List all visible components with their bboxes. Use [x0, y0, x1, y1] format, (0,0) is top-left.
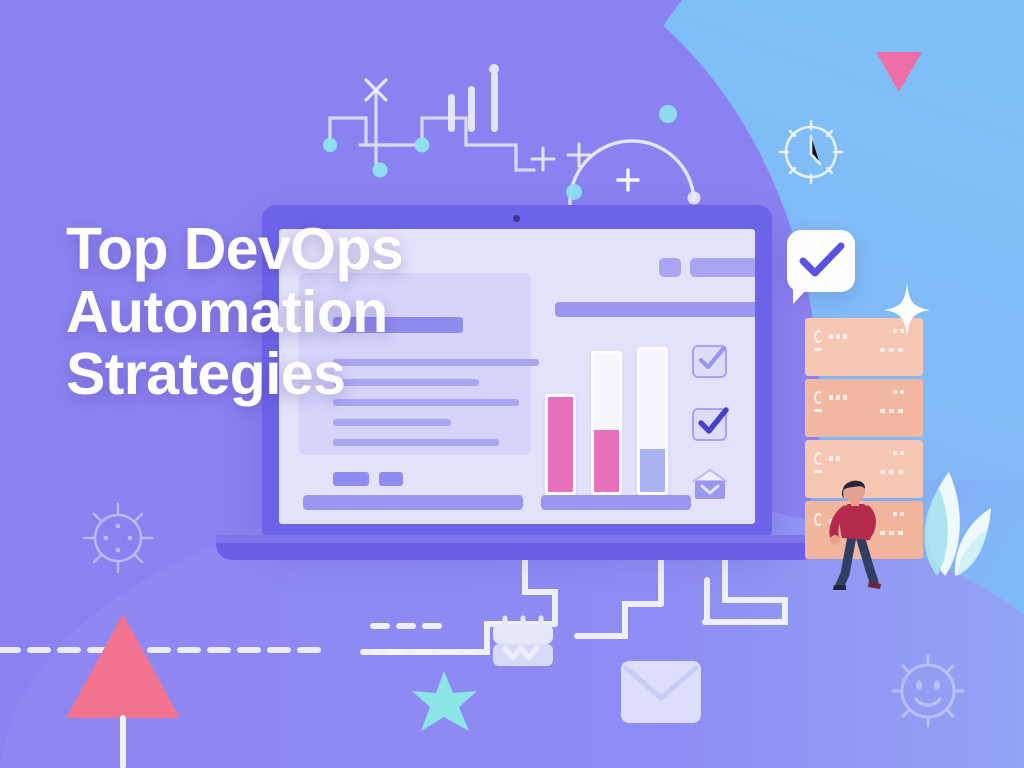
card-button[interactable] — [379, 472, 403, 486]
sparkle-star — [884, 283, 930, 337]
checkbox-checked-dark[interactable] — [692, 408, 727, 441]
speech-bubble-check — [787, 230, 855, 292]
clock-icon — [773, 114, 849, 190]
chart-bar-2-fill — [594, 430, 619, 492]
chart-bar-1-fill — [548, 397, 573, 492]
page-title: Top DevOps Automation Strategies — [66, 218, 586, 406]
check-icon — [800, 244, 844, 280]
card-glyph-icon — [814, 391, 823, 404]
envelope-icon — [620, 660, 702, 724]
walking-person — [826, 478, 898, 594]
chip-wide-bar — [690, 258, 755, 277]
triangle-down-pink — [876, 52, 922, 92]
footer-bar — [541, 495, 691, 510]
placeholder-bar — [333, 419, 451, 426]
headline-line-2: Automation — [66, 281, 586, 344]
chart-bar-2 — [591, 351, 622, 495]
smiley-sun-icon — [885, 648, 971, 734]
placeholder-bar — [333, 439, 499, 446]
laptop-base — [216, 535, 818, 560]
card-button[interactable] — [333, 472, 369, 486]
chart-bar-3-fill — [640, 449, 665, 492]
gear-outline-icon — [80, 500, 156, 576]
asterisk-star-cyan — [409, 669, 479, 735]
card-glyph-icon — [814, 330, 823, 343]
triangle-up-pink — [66, 614, 180, 768]
card-glyph-icon — [814, 513, 823, 526]
checkbox-checked-light[interactable] — [692, 345, 727, 378]
chart-bar-1 — [545, 394, 576, 495]
gauge-arc — [556, 88, 716, 218]
hero-illustration: Top DevOps Automation Strategies — [0, 0, 1024, 768]
footer-bar — [303, 495, 523, 510]
mail-open-icon[interactable] — [692, 469, 727, 499]
chart-bar-3 — [637, 347, 668, 495]
server-rack-icon — [491, 618, 555, 670]
card-glyph-icon — [814, 452, 823, 465]
speech-bubble-body — [787, 230, 855, 292]
speech-bubble-tail — [793, 286, 810, 304]
record-card — [805, 379, 923, 437]
headline-line-1: Top DevOps — [66, 218, 586, 281]
headline-line-3: Strategies — [66, 343, 586, 406]
chip-square-icon — [659, 258, 681, 277]
